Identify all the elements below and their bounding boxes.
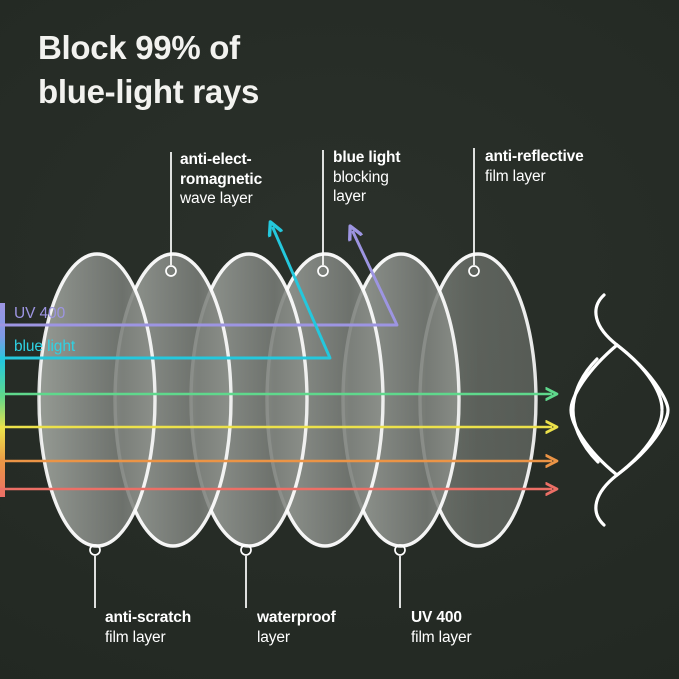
callout-line-1: blue light	[333, 148, 400, 168]
eye-upper-lid	[596, 295, 662, 409]
callout-waterproof-layer: waterproof layer	[257, 608, 336, 647]
callout-line-1: anti-reflective	[485, 147, 584, 167]
callout-line-1: anti-elect-	[180, 150, 262, 170]
human-eye-outline	[571, 295, 668, 525]
blue-light-lens-infographic: Block 99% of blue-light rays anti-elect-…	[0, 0, 679, 679]
callout-line-1: UV 400	[411, 608, 472, 628]
callout-line-2: romagnetic	[180, 170, 262, 190]
lens-layer-1	[39, 254, 155, 546]
spectrum-gradient-bar	[0, 303, 5, 497]
uv-400-ray-label: UV 400	[14, 305, 65, 323]
callout-line-2: film layer	[411, 628, 472, 648]
blue-light-ray-label: blue light	[14, 338, 75, 356]
lens-stack	[39, 254, 536, 546]
page-title: Block 99% of blue-light rays	[38, 26, 259, 113]
callout-uv-400-film-layer: UV 400 film layer	[411, 608, 472, 647]
eye-outline-front	[617, 345, 668, 475]
callout-line-2: film layer	[485, 167, 584, 187]
callout-line-3: wave layer	[180, 189, 262, 209]
iris-arc	[573, 359, 598, 462]
callout-line-1: anti-scratch	[105, 608, 191, 628]
callout-line-2: film layer	[105, 628, 191, 648]
eye-lower-lid	[596, 411, 662, 525]
callout-anti-reflective-film-layer: anti-reflective film layer	[485, 147, 584, 186]
callout-anti-electromagnetic-wave-layer: anti-elect- romagnetic wave layer	[180, 150, 262, 209]
callout-anti-scratch-film-layer: anti-scratch film layer	[105, 608, 191, 647]
callout-blue-light-blocking-layer: blue light blocking layer	[333, 148, 400, 207]
callout-line-1: waterproof	[257, 608, 336, 628]
callout-line-2: layer	[257, 628, 336, 648]
callout-line-2: blocking	[333, 168, 400, 188]
callout-line-3: layer	[333, 187, 400, 207]
